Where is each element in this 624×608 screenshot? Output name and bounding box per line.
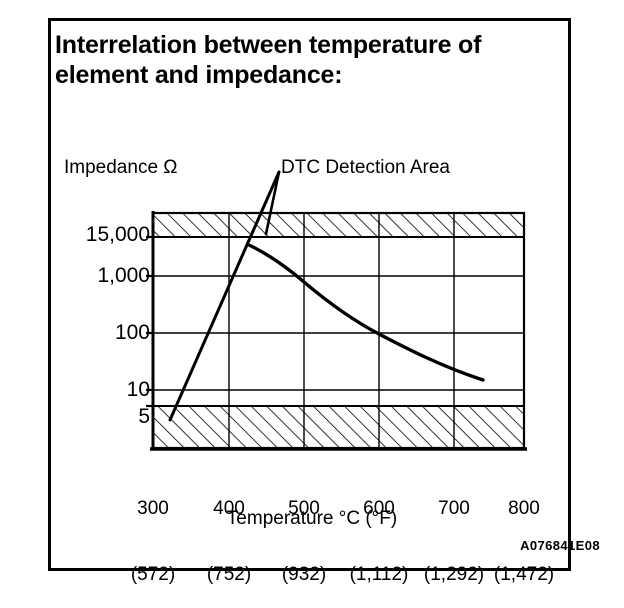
dtc-band-lower (153, 406, 524, 448)
dtc-leader-line-lower (170, 172, 279, 420)
impedance-curve (249, 245, 483, 380)
dtc-band-upper (153, 213, 524, 237)
chart-plot (0, 0, 624, 590)
